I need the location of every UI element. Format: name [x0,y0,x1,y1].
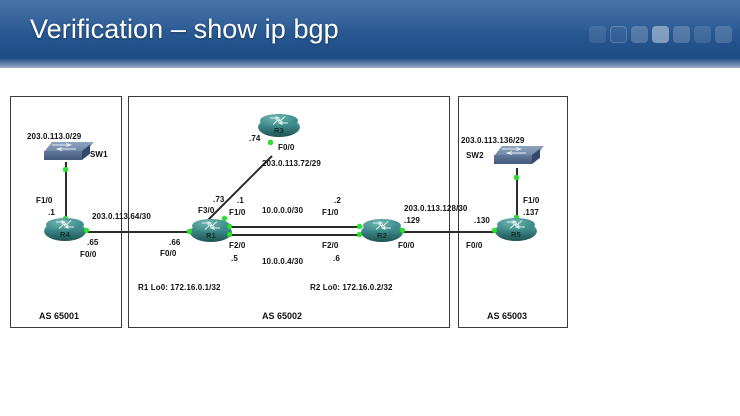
link-r2-r5-subnet-label: 203.0.113.128/30 [404,204,467,213]
r5-f0-0-ip: .130 [474,216,490,225]
decor-square-7 [715,26,732,43]
r1-f2-0-label: F2/0 [229,241,245,250]
router-arrow-icon [504,219,528,230]
network-diagram: AS 65001 AS 65002 AS 65003 203.0.113.0/2… [0,68,740,416]
interface-dot-sw2-down [514,175,519,180]
decor-square-6 [694,26,711,43]
interface-dot-sw1-down [63,167,68,172]
r1-f1-0-label: F1/0 [229,208,245,217]
switch-arrow-icon [500,147,528,155]
r4-f1-0-ip: .1 [48,208,55,217]
link-r4-r1-subnet-label: 203.0.113.64/30 [92,212,151,221]
router-arrow-icon [370,220,394,231]
interface-dot-r5-f0-0 [492,228,497,233]
switch-sw2 [494,146,540,168]
r1-device-label: R1 [190,231,232,240]
router-arrow-icon [267,115,291,126]
r2-f1-0-label: F1/0 [322,208,338,217]
interface-dot-r1-f1-0 [227,224,232,229]
r5-f1-0-ip: .137 [523,208,539,217]
r3-f0-0-ip: .74 [249,134,260,143]
r2-f0-0-ip: .129 [404,216,420,225]
r1-f3-0-ip: .73 [213,195,224,204]
page-title: Verification – show ip bgp [30,14,339,45]
as-label-65003: AS 65003 [487,311,527,321]
r3-device-label: R3 [258,126,300,135]
switch-sw1 [44,142,90,164]
r5-f0-0-label: F0/0 [466,241,482,250]
r4-f1-0-label: F1/0 [36,196,52,205]
link-r4-r1 [88,231,198,233]
r2-loopback-label: R2 Lo0: 172.16.0.2/32 [310,283,393,292]
r3-f0-0-label: F0/0 [278,143,294,152]
r5-f1-0-label: F1/0 [523,196,539,205]
decor-square-4 [652,26,669,43]
router-r4: R4 [44,218,86,244]
r4-device-label: R4 [44,230,86,239]
sw1-device-label: SW1 [90,150,108,159]
link-r1-r2-bottom [230,234,360,236]
r2-f2-0-label: F2/0 [322,241,338,250]
link-r2-r5 [388,231,506,233]
r4-f0-0-label: F0/0 [80,250,96,259]
interface-dot-r1-f0-0 [187,229,192,234]
decor-square-5 [673,26,690,43]
header-decorative-squares [589,26,732,43]
r1-f0-0-ip: .66 [169,238,180,247]
as-box-65003 [458,96,568,328]
r2-f0-0-label: F0/0 [398,241,414,250]
switch-arrow-icon [50,143,78,151]
interface-dot-r2-f0-0 [400,228,405,233]
as-label-65001: AS 65001 [39,311,79,321]
r4-f0-0-ip: .65 [87,238,98,247]
router-r5: R5 [495,218,537,244]
as-label-65002: AS 65002 [262,311,302,321]
interface-dot-r4-f0-0 [84,228,89,233]
decor-square-2 [610,26,627,43]
r1-f3-0-label: F3/0 [198,206,214,215]
r1-loopback-label: R1 Lo0: 172.16.0.1/32 [138,283,221,292]
router-r3: R3 [258,114,300,140]
router-r1: R1 [190,219,232,245]
sw2-subnet-label: 203.0.113.136/29 [461,136,524,145]
slide-header: Verification – show ip bgp [0,0,740,68]
r2-f2-0-ip: .6 [333,254,340,263]
link-r1-r2-bottom-subnet-label: 10.0.0.4/30 [262,257,303,266]
link-r1-r3-subnet-label: 203.0.113.72/29 [262,159,321,168]
router-arrow-icon [199,220,223,231]
sw1-subnet-label: 203.0.113.0/29 [27,132,81,141]
sw2-device-label: SW2 [466,151,484,160]
decor-square-3 [631,26,648,43]
interface-dot-r1-f2-0 [227,232,232,237]
r1-f1-0-ip: .1 [237,196,244,205]
decor-square-1 [589,26,606,43]
r1-f0-0-label: F0/0 [160,249,176,258]
r2-device-label: R2 [361,231,403,240]
r2-f1-0-ip: .2 [334,196,341,205]
link-r1-r2-top-subnet-label: 10.0.0.0/30 [262,206,303,215]
link-r1-r2-top [230,226,360,228]
r5-device-label: R5 [495,230,537,239]
router-r2: R2 [361,219,403,245]
interface-dot-r3-f0-0 [268,140,273,145]
router-arrow-icon [53,219,77,230]
r1-f2-0-ip: .5 [231,254,238,263]
